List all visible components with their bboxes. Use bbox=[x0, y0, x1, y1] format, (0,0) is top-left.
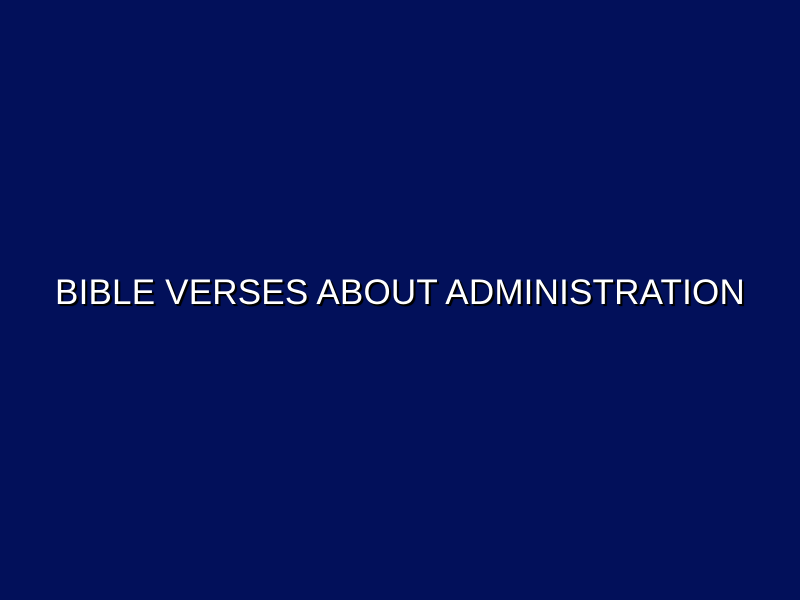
title-card: BIBLE VERSES ABOUT ADMINISTRATION bbox=[0, 0, 800, 600]
page-title: BIBLE VERSES ABOUT ADMINISTRATION bbox=[24, 273, 776, 312]
headline-container: BIBLE VERSES ABOUT ADMINISTRATION bbox=[0, 273, 800, 312]
